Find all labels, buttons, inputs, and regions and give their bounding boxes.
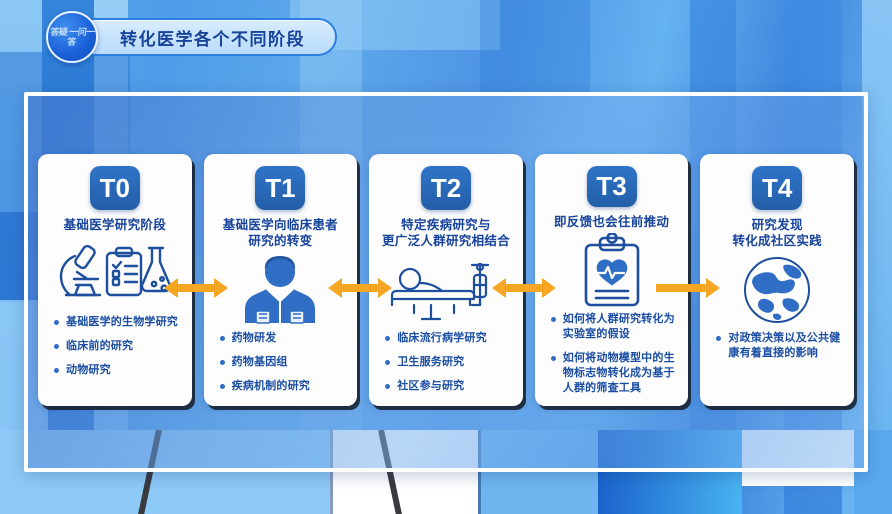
bullet-dot-icon (54, 368, 59, 373)
bullet-text: 如何将动物模型中的生物标志物转化成为基于人群的筛查工具 (563, 351, 677, 396)
page-title-pill: 转化医学各个不同阶段 (76, 18, 337, 56)
bullet-dot-icon (54, 320, 59, 325)
header-bar: 答疑 一问一答 转化医学各个不同阶段 (46, 14, 337, 60)
bullet-dot-icon (385, 336, 390, 341)
qa-circle-logo-icon: 答疑 一问一答 (46, 11, 98, 63)
infographic-canvas: 答疑 一问一答 转化医学各个不同阶段 T0 基础医学研究阶段 (0, 0, 892, 514)
stage-title-t3: 即反馈也会往前推动 (554, 214, 669, 230)
stage-badge-t3: T3 (587, 166, 637, 207)
list-item: 临床前的研究 (50, 339, 180, 354)
stage-title-t0: 基础医学研究阶段 (64, 217, 166, 233)
list-item: 疾病机制的研究 (216, 379, 346, 394)
bullet-dot-icon (716, 336, 721, 341)
patient-bed-iv-icon (384, 253, 508, 327)
list-item: 药物基因组 (216, 355, 346, 370)
bullet-text: 药物基因组 (232, 355, 288, 370)
bullet-dot-icon (551, 356, 556, 361)
bullet-text: 临床流行病学研究 (397, 331, 487, 346)
list-item: 如何将人群研究转化为实验室的假设 (547, 312, 677, 342)
stage-badge-t2: T2 (421, 166, 471, 210)
list-item: 药物研发 (216, 331, 346, 346)
stage-badge-t0: T0 (90, 166, 140, 210)
bullet-text: 疾病机制的研究 (232, 379, 310, 394)
doctor-person-icon (234, 253, 326, 327)
stage-bullets-t0: 基础医学的生物学研究 临床前的研究 动物研究 (48, 315, 182, 378)
list-item: 对政策决策以及公共健康有着直接的影响 (712, 331, 842, 361)
stage-bullets-t4: 对政策决策以及公共健康有着直接的影响 (710, 331, 844, 361)
stage-card-t3[interactable]: T3 即反馈也会往前推动 如何将人群研究转化为实验室的假设 (535, 154, 689, 406)
bullet-dot-icon (220, 336, 225, 341)
stage-card-t4[interactable]: T4 研究发现 转化成社区实践 (700, 154, 854, 406)
bullet-text: 社区参与研究 (397, 379, 464, 394)
stage-badge-t4: T4 (752, 166, 802, 210)
list-item: 社区参与研究 (381, 379, 511, 394)
stage-card-t1[interactable]: T1 基础医学向临床患者 研究的转变 (204, 154, 358, 406)
clipboard-heartbeat-icon (576, 234, 648, 308)
globe-icon (738, 253, 816, 327)
stage-card-t0[interactable]: T0 基础医学研究阶段 (38, 154, 192, 406)
stage-bullets-t1: 药物研发 药物基因组 疾病机制的研究 (214, 331, 348, 394)
microscope-clipboard-flask-icon (52, 237, 178, 311)
page-title: 转化医学各个不同阶段 (120, 25, 305, 50)
bullet-text: 如何将人群研究转化为实验室的假设 (563, 312, 677, 342)
stage-title-t2: 特定疾病研究与 更广泛人群研究相结合 (382, 217, 510, 249)
logo-glyph-text: 答疑 一问一答 (47, 27, 97, 47)
bullet-dot-icon (385, 384, 390, 389)
bullet-text: 临床前的研究 (66, 339, 133, 354)
bullet-text: 卫生服务研究 (397, 355, 464, 370)
stage-card-t2[interactable]: T2 特定疾病研究与 更广泛人群研究相结合 (369, 154, 523, 406)
bullet-dot-icon (385, 360, 390, 365)
bullet-text: 基础医学的生物学研究 (66, 315, 178, 330)
bullet-dot-icon (220, 360, 225, 365)
bullet-text: 动物研究 (66, 363, 111, 378)
stage-title-t4: 研究发现 转化成社区实践 (732, 217, 822, 249)
stage-card-list: T0 基础医学研究阶段 (28, 154, 864, 406)
bullet-dot-icon (220, 384, 225, 389)
bg-block-e (480, 0, 590, 92)
list-item: 卫生服务研究 (381, 355, 511, 370)
bullet-dot-icon (54, 344, 59, 349)
list-item: 动物研究 (50, 363, 180, 378)
board-frame: T0 基础医学研究阶段 (24, 92, 868, 472)
stage-badge-t1: T1 (255, 166, 305, 210)
list-item: 如何将动物模型中的生物标志物转化成为基于人群的筛查工具 (547, 351, 677, 396)
bullet-dot-icon (551, 317, 556, 322)
stage-title-t1: 基础医学向临床患者 研究的转变 (223, 217, 338, 249)
bullet-text: 对政策决策以及公共健康有着直接的影响 (728, 331, 842, 361)
stage-bullets-t3: 如何将人群研究转化为实验室的假设 如何将动物模型中的生物标志物转化成为基于人群的… (545, 312, 679, 396)
stage-bullets-t2: 临床流行病学研究 卫生服务研究 社区参与研究 (379, 331, 513, 394)
list-item: 临床流行病学研究 (381, 331, 511, 346)
list-item: 基础医学的生物学研究 (50, 315, 180, 330)
bullet-text: 药物研发 (232, 331, 277, 346)
